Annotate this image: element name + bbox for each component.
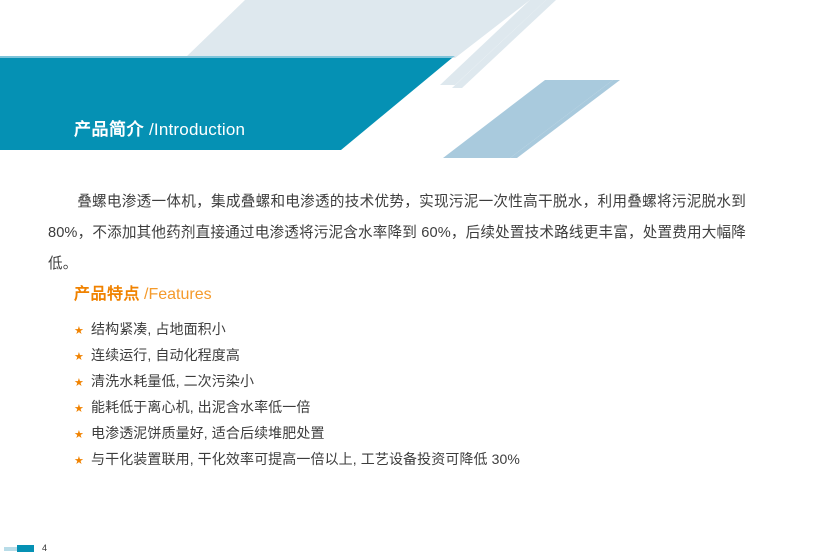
- star-icon: ★: [74, 396, 91, 422]
- feature-text: 结构紧凑, 占地面积小: [91, 316, 226, 342]
- list-item: ★ 电渗透泥饼质量好, 适合后续堆肥处置: [74, 420, 774, 446]
- star-icon: ★: [74, 448, 91, 474]
- feature-text: 与干化装置联用, 干化效率可提高一倍以上, 工艺设备投资可降低 30%: [91, 446, 520, 472]
- feature-text: 电渗透泥饼质量好, 适合后续堆肥处置: [91, 420, 325, 446]
- list-item: ★ 能耗低于离心机, 出泥含水率低一倍: [74, 394, 774, 420]
- footer-bar-dark-icon: [17, 545, 34, 552]
- footer-bar-light-icon: [4, 547, 17, 551]
- feature-text: 能耗低于离心机, 出泥含水率低一倍: [91, 394, 310, 420]
- section-title-en: /Introduction: [149, 120, 245, 139]
- features-title-en: /Features: [144, 286, 212, 303]
- features-title: 产品特点/Features: [74, 287, 212, 303]
- feature-text: 清洗水耗量低, 二次污染小: [91, 368, 254, 394]
- page-number: 4: [42, 544, 47, 553]
- header-banner: 产品简介/Introduction: [0, 0, 824, 158]
- section-title: 产品简介/Introduction: [74, 121, 245, 139]
- section-title-cn: 产品简介: [74, 120, 144, 139]
- star-icon: ★: [74, 344, 91, 370]
- list-item: ★ 与干化装置联用, 干化效率可提高一倍以上, 工艺设备投资可降低 30%: [74, 446, 774, 472]
- teal-band-highlight: [0, 56, 455, 58]
- feature-text: 连续运行, 自动化程度高: [91, 342, 240, 368]
- features-list: ★ 结构紧凑, 占地面积小 ★ 连续运行, 自动化程度高 ★ 清洗水耗量低, 二…: [74, 316, 774, 472]
- features-title-cn: 产品特点: [74, 286, 140, 303]
- star-icon: ★: [74, 370, 91, 396]
- intro-paragraph: 叠螺电渗透一体机，集成叠螺和电渗透的技术优势，实现污泥一次性高干脱水，利用叠螺将…: [48, 187, 746, 280]
- list-item: ★ 连续运行, 自动化程度高: [74, 342, 774, 368]
- footer-page-marker: 4: [4, 544, 47, 553]
- star-icon: ★: [74, 318, 91, 344]
- star-icon: ★: [74, 422, 91, 448]
- list-item: ★ 清洗水耗量低, 二次污染小: [74, 368, 774, 394]
- list-item: ★ 结构紧凑, 占地面积小: [74, 316, 774, 342]
